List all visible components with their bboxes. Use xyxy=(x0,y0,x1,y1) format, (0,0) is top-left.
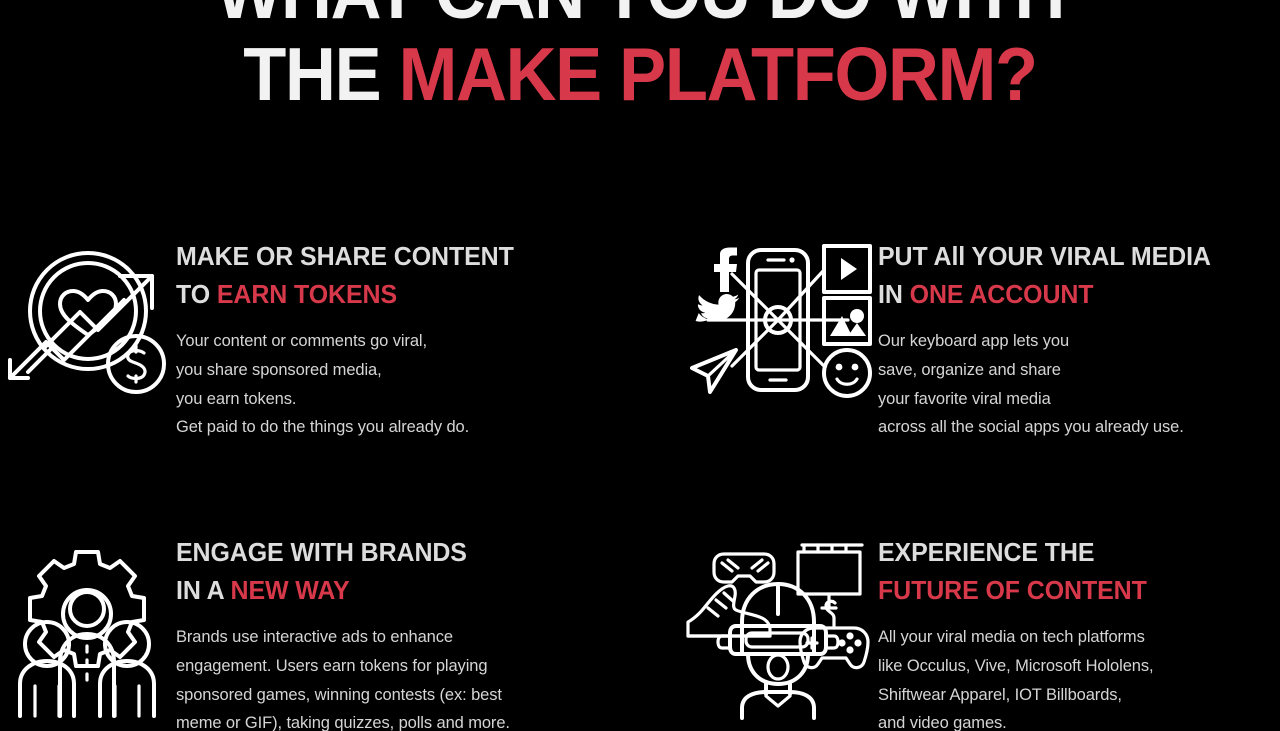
panel-body: ENGAGE WITH BRANDS IN A NEW WAY Brands u… xyxy=(176,532,598,731)
feature-panel-experience-the-future-of-content: EXPERIENCE THE FUTURE OF CONTENT All you… xyxy=(678,532,1280,731)
panel-heading-line-2-prefix: IN xyxy=(878,279,910,309)
panel-heading: MAKE OR SHARE CONTENT TO EARN TOKENS xyxy=(176,238,581,313)
desc-line: and video games. xyxy=(878,709,1280,731)
feature-panel-make-or-share-content: MAKE OR SHARE CONTENT TO EARN TOKENS You… xyxy=(0,236,598,442)
panel-heading-line-2: TO EARN TOKENS xyxy=(176,276,581,314)
panel-heading-line-2: IN ONE ACCOUNT xyxy=(878,276,1266,314)
panel-body: PUT All YOUR VIRAL MEDIA IN ONE ACCOUNT … xyxy=(878,236,1280,442)
title-line-2-accent: MAKE PLATFORM? xyxy=(399,32,1037,116)
panel-heading-line-2: IN A NEW WAY xyxy=(176,572,581,610)
panel-heading-line-2-accent: FUTURE OF CONTENT xyxy=(878,575,1147,605)
panel-heading-line-1: EXPERIENCE THE xyxy=(878,534,1266,572)
panel-heading: PUT All YOUR VIRAL MEDIA IN ONE ACCOUNT xyxy=(878,238,1266,313)
page-title: WHAT CAN YOU DO WITH THE MAKE PLATFORM? xyxy=(0,0,1280,110)
panel-heading: EXPERIENCE THE FUTURE OF CONTENT xyxy=(878,534,1266,609)
desc-line: Your content or comments go viral, xyxy=(176,327,598,356)
desc-line: you earn tokens. xyxy=(176,385,598,414)
panel-body: MAKE OR SHARE CONTENT TO EARN TOKENS You… xyxy=(176,236,598,442)
desc-line: you share sponsored media, xyxy=(176,356,598,385)
panel-description: Our keyboard app lets you save, organize… xyxy=(878,327,1280,442)
panel-heading-line-2-prefix: TO xyxy=(176,279,217,309)
panel-description: All your viral media on tech platforms l… xyxy=(878,623,1280,731)
desc-line: across all the social apps you already u… xyxy=(878,413,1280,442)
desc-line: Shiftwear Apparel, IOT Billboards, xyxy=(878,681,1280,710)
title-line-2: THE MAKE PLATFORM? xyxy=(38,38,1241,110)
infographic-slide: WHAT CAN YOU DO WITH THE MAKE PLATFORM? xyxy=(0,0,1280,731)
title-line-2-prefix: THE xyxy=(243,32,398,116)
desc-line: sponsored games, winning contests (ex: b… xyxy=(176,681,598,710)
desc-line: All your viral media on tech platforms xyxy=(878,623,1280,652)
panel-heading: ENGAGE WITH BRANDS IN A NEW WAY xyxy=(176,534,581,609)
desc-line: meme or GIF), taking quizzes, polls and … xyxy=(176,709,598,731)
desc-line: engagement. Users earn tokens for playin… xyxy=(176,652,598,681)
desc-line: your favorite viral media xyxy=(878,385,1280,414)
panel-heading-line-2: FUTURE OF CONTENT xyxy=(878,572,1266,610)
panel-heading-line-1: PUT All YOUR VIRAL MEDIA xyxy=(878,238,1266,276)
desc-line: like Occulus, Vive, Microsoft Hololens, xyxy=(878,652,1280,681)
desc-line: Brands use interactive ads to enhance xyxy=(176,623,598,652)
panel-heading-line-2-accent: EARN TOKENS xyxy=(217,279,397,309)
panel-description: Brands use interactive ads to enhance en… xyxy=(176,623,598,731)
magnifier-heart-growth-dollar-icon xyxy=(0,236,176,410)
panel-body: EXPERIENCE THE FUTURE OF CONTENT All you… xyxy=(878,532,1280,731)
feature-panel-engage-with-brands: ENGAGE WITH BRANDS IN A NEW WAY Brands u… xyxy=(0,532,598,731)
desc-line: Get paid to do the things you already do… xyxy=(176,413,598,442)
feature-panel-put-all-your-viral-media: PUT All YOUR VIRAL MEDIA IN ONE ACCOUNT … xyxy=(678,236,1280,442)
desc-line: save, organize and share xyxy=(878,356,1280,385)
panel-description: Your content or comments go viral, you s… xyxy=(176,327,598,442)
desc-line: Our keyboard app lets you xyxy=(878,327,1280,356)
panel-heading-line-2-prefix: IN A xyxy=(176,575,231,605)
vr-headset-tech-platforms-icon xyxy=(678,532,878,718)
panel-heading-line-2-accent: ONE ACCOUNT xyxy=(910,279,1094,309)
phone-social-network-icon xyxy=(678,236,878,400)
panel-heading-line-1: MAKE OR SHARE CONTENT xyxy=(176,238,581,276)
title-line-1: WHAT CAN YOU DO WITH xyxy=(38,0,1241,28)
panel-heading-line-1: ENGAGE WITH BRANDS xyxy=(176,534,581,572)
people-gear-icon xyxy=(0,532,176,716)
panel-heading-line-2-accent: NEW WAY xyxy=(231,575,350,605)
